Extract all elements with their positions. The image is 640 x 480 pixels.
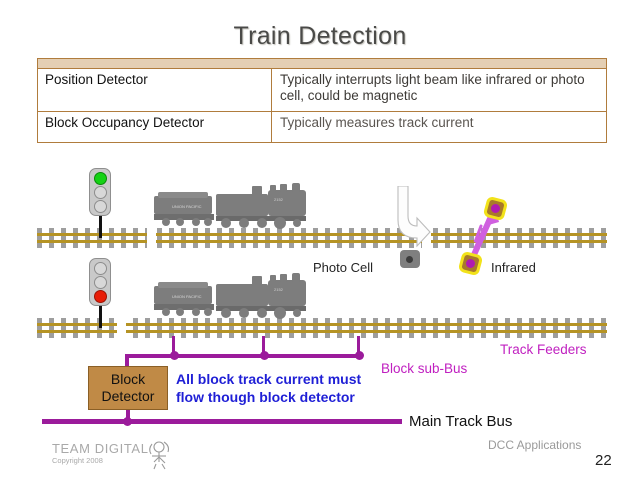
page-number: 22 <box>595 452 612 469</box>
svg-text:2152: 2152 <box>274 287 284 292</box>
signal-lamp-green <box>94 172 107 185</box>
svg-text:2152: 2152 <box>274 197 284 202</box>
table-row: Position Detector Typically interrupts l… <box>38 69 606 111</box>
photo-cell-lens <box>406 256 413 263</box>
footer-subject: DCC Applications <box>488 438 581 452</box>
note-line-2: flow though block detector <box>176 388 361 406</box>
brand-name: TEAM DIGITAL <box>52 441 149 456</box>
locomotive-graphic: UNION PACIFIC 2152 <box>152 272 312 320</box>
signal-mast <box>99 306 102 328</box>
signal-lamp-yellow-off <box>94 186 107 199</box>
table-cell-term: Position Detector <box>38 69 272 111</box>
locomotive-lower: UNION PACIFIC 2152 <box>152 272 312 325</box>
table-cell-definition: Typically measures track current <box>272 112 606 142</box>
team-digital-logo <box>146 438 176 475</box>
photo-cell-sensor <box>392 186 438 273</box>
main-track-bus-label: Main Track Bus <box>409 413 512 430</box>
signal-body <box>89 168 111 216</box>
copyright-text: Copyright 2008 <box>52 456 103 465</box>
infrared-emitter-dot <box>491 204 500 213</box>
slide-canvas: Train Detection Position Detector Typica… <box>0 0 640 480</box>
signal-lamp-red-off <box>94 200 107 213</box>
table-header-strip <box>38 59 606 69</box>
feeder-node <box>260 351 269 360</box>
block-sub-bus-wire <box>125 354 361 358</box>
track-feeders-label: Track Feeders <box>500 342 587 357</box>
track-rail-bottom <box>37 240 607 243</box>
infrared-label: Infrared <box>491 260 536 275</box>
lower-track <box>37 318 607 338</box>
block-detector-line1: Block <box>111 371 145 388</box>
definition-table: Position Detector Typically interrupts l… <box>37 58 607 143</box>
table-row: Block Occupancy Detector Typically measu… <box>38 111 606 142</box>
feeder-node <box>355 351 364 360</box>
locomotive-graphic: UNION PACIFIC 2152 <box>152 182 312 230</box>
table-cell-definition: Typically interrupts light beam like inf… <box>272 69 606 111</box>
svg-text:UNION PACIFIC: UNION PACIFIC <box>172 204 202 209</box>
signal-head-red <box>89 258 111 328</box>
logo-graphic <box>146 438 176 470</box>
locomotive-upper: UNION PACIFIC 2152 <box>152 182 312 235</box>
block-detector-line2: Detector <box>102 388 155 405</box>
table-cell-term: Block Occupancy Detector <box>38 112 272 142</box>
infrared-receiver-dot <box>466 259 475 268</box>
signal-head-green <box>89 168 111 238</box>
svg-text:UNION PACIFIC: UNION PACIFIC <box>172 294 202 299</box>
signal-mast <box>99 216 102 238</box>
block-current-note: All block track current must flow though… <box>176 370 361 406</box>
signal-lamp-red <box>94 290 107 303</box>
upper-track <box>37 228 607 248</box>
track-gap <box>117 318 126 338</box>
photo-cell-label: Photo Cell <box>313 260 373 275</box>
block-sub-bus-label: Block sub-Bus <box>381 361 467 376</box>
track-rail-top <box>37 233 607 236</box>
note-line-1: All block track current must <box>176 370 361 388</box>
page-title: Train Detection <box>0 22 640 51</box>
signal-lamp-yellow-off <box>94 276 107 289</box>
signal-body <box>89 258 111 306</box>
main-bus-node <box>123 417 132 426</box>
block-detector-box: Block Detector <box>88 366 168 410</box>
signal-lamp-green-off <box>94 262 107 275</box>
main-track-bus-wire <box>42 419 402 424</box>
feeder-node <box>170 351 179 360</box>
track-ties <box>37 228 607 248</box>
